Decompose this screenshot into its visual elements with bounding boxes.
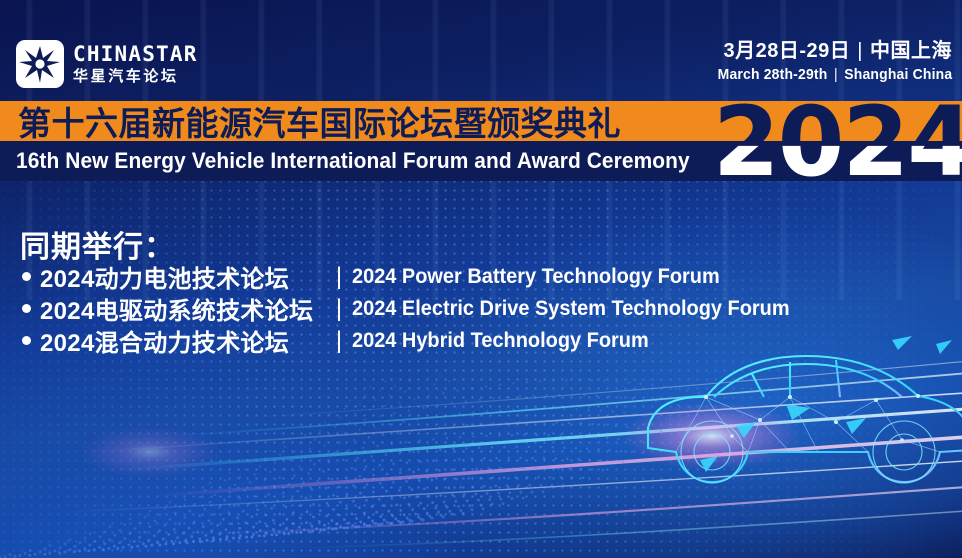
bullet-icon — [22, 304, 31, 313]
list-item: 2024混合动力技术论坛 | 2024 Hybrid Technology Fo… — [22, 326, 813, 355]
forum-separator: | — [326, 327, 352, 355]
date-separator-en: | — [834, 66, 838, 83]
event-date-cn: 3月28日-29日 — [724, 40, 851, 62]
event-poster: CHINASTAR 华星汽车论坛 3月28日-29日|中国上海 March 28… — [0, 0, 962, 558]
event-date-location: 3月28日-29日|中国上海 March 28th-29th|Shanghai … — [700, 40, 952, 83]
bullet-icon — [22, 272, 31, 281]
forum-name-en: 2024 Power Battery Technology Forum — [352, 265, 720, 289]
forum-name-en: 2024 Electric Drive System Technology Fo… — [352, 297, 790, 321]
brand-name-cn: 华星汽车论坛 — [73, 69, 198, 84]
brand-name-en: CHINASTAR — [73, 44, 198, 65]
forum-name-cn: 2024混合动力技术论坛 — [40, 323, 326, 358]
forum-name-cn: 2024电驱动系统技术论坛 — [40, 291, 326, 326]
event-date-cn-row: 3月28日-29日|中国上海 — [700, 40, 952, 63]
date-separator-cn: | — [857, 40, 863, 63]
poster-header: CHINASTAR 华星汽车论坛 3月28日-29日|中国上海 March 28… — [0, 0, 962, 101]
forum-separator: | — [326, 263, 352, 291]
event-title-en: 16th New Energy Vehicle International Fo… — [16, 142, 690, 180]
event-date-en: March 28th-29th — [717, 66, 827, 83]
list-item: 2024动力电池技术论坛 | 2024 Power Battery Techno… — [22, 262, 813, 291]
chinastar-star-logo-icon — [16, 40, 64, 88]
event-location-en: Shanghai China — [844, 66, 952, 83]
brand-logo[interactable]: CHINASTAR 华星汽车论坛 — [16, 40, 198, 88]
forum-name-cn: 2024动力电池技术论坛 — [40, 259, 326, 294]
event-date-en-row: March 28th-29th|Shanghai China — [717, 66, 952, 83]
list-item: 2024电驱动系统技术论坛 | 2024 Electric Drive Syst… — [22, 294, 813, 323]
event-location-cn: 中国上海 — [870, 40, 952, 62]
concurrent-forum-list: 2024动力电池技术论坛 | 2024 Power Battery Techno… — [22, 262, 813, 358]
bullet-icon — [22, 336, 31, 345]
forum-separator: | — [326, 295, 352, 323]
event-title-cn: 第十六届新能源汽车国际论坛暨颁奖典礼 — [18, 100, 621, 142]
forum-name-en: 2024 Hybrid Technology Forum — [352, 329, 649, 353]
